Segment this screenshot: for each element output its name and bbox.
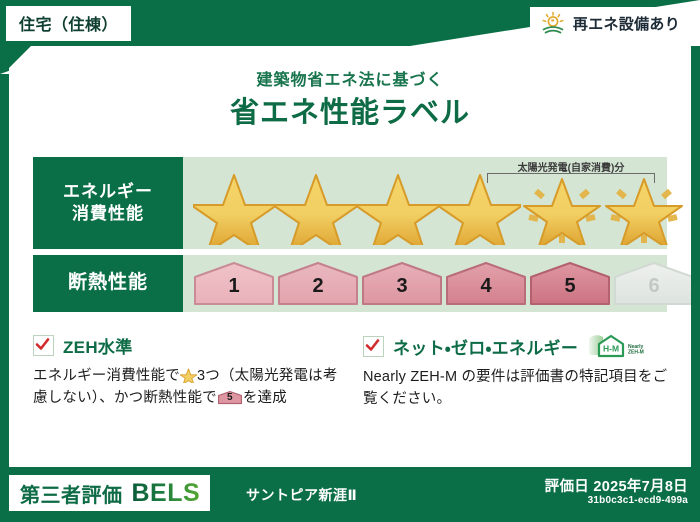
insulation-performance-row: 断熱性能 <box>33 255 667 312</box>
inline-grade-badge: 5 <box>218 389 242 406</box>
zeh-body-pre: エネルギー消費性能で <box>33 368 180 384</box>
inline-star-icon <box>180 367 197 383</box>
insulation-performance-label: 断熱性能 <box>33 255 183 312</box>
zeh-standard-heading-row: ZEH水準 <box>33 333 343 358</box>
bels-certification-mark: 第三者評価 BELS <box>9 475 210 511</box>
nearly-zehm-logo-icon: H-M Nearly ZEH-M <box>589 333 651 359</box>
energy-label-line1: エネルギー <box>63 181 153 203</box>
evaluation-date: 評価日 2025年7月8日 <box>545 475 688 496</box>
checkbox-checked <box>33 335 54 356</box>
insulation-performance-body: 1 2 3 <box>183 255 667 312</box>
sun-icon <box>540 11 566 35</box>
energy-label-card: 住宅（住棟） 再エネ設備あり 建築物省エネ法に基づく 省エネ性能ラベル エネルギ… <box>0 0 700 522</box>
check-icon <box>35 337 50 352</box>
zeh-body-post: を達成 <box>243 390 287 406</box>
grade-number: 4 <box>445 276 527 296</box>
net-zero-body: Nearly ZEH-M の要件は評価書の特記項目をご覧ください。 <box>363 366 673 410</box>
label-title: 省エネ性能ラベル <box>9 89 691 131</box>
star-filled <box>275 169 357 245</box>
insulation-grade-badge: 3 <box>361 261 443 306</box>
energy-label-line2: 消費性能 <box>72 203 144 225</box>
star-filled <box>357 169 439 245</box>
check-icon <box>365 338 380 353</box>
grade-number: 1 <box>193 276 275 296</box>
star-filled <box>193 169 275 245</box>
insulation-grade-badge: 2 <box>277 261 359 306</box>
building-name: サントピア新涯Ⅱ <box>246 485 357 505</box>
insulation-grade-badge: 1 <box>193 261 275 306</box>
net-zero-energy-column: ネット・ゼロ・エネルギー H-M Nearly ZEH-M Nearly ZEH… <box>363 333 673 410</box>
label-footer: 第三者評価 BELS サントピア新涯Ⅱ 評価日 2025年7月8日 31b0c3… <box>0 467 700 522</box>
solar-generation-note: 太陽光発電(自家消費)分 <box>485 159 657 174</box>
net-zero-heading: ネット・ゼロ・エネルギー <box>393 334 578 359</box>
insulation-grade-badge: 6 <box>613 261 695 306</box>
renewable-equipment-badge: 再エネ設備あり <box>530 7 692 39</box>
grade-number: 2 <box>277 276 359 296</box>
document-type-badge: 住宅（住棟） <box>6 6 131 41</box>
bels-jp-label: 第三者評価 <box>20 479 123 508</box>
grade-number: 5 <box>529 276 611 296</box>
renewable-badge-label: 再エネ設備あり <box>573 13 680 34</box>
inline-grade-number: 5 <box>218 393 242 403</box>
criteria-columns: ZEH水準 エネルギー消費性能で3つ（太陽光発電は考慮しない）、かつ断熱性能で5… <box>33 333 673 410</box>
insulation-grade-badge: 4 <box>445 261 527 306</box>
checkbox-checked <box>363 336 384 357</box>
energy-performance-label: エネルギー 消費性能 <box>33 157 183 249</box>
zeh-standard-body: エネルギー消費性能で3つ（太陽光発電は考慮しない）、かつ断熱性能で5を達成 <box>33 365 343 409</box>
net-zero-heading-row: ネット・ゼロ・エネルギー H-M Nearly ZEH-M <box>363 333 673 359</box>
grade-number: 3 <box>361 276 443 296</box>
zehm-caption-line2: ZEH-M <box>628 350 644 356</box>
label-subtitle: 建築物省エネ法に基づく <box>9 66 691 90</box>
grade-number: 6 <box>613 276 695 296</box>
insulation-grade-scale: 1 2 3 <box>193 255 661 312</box>
insulation-grade-badge: 5 <box>529 261 611 306</box>
energy-performance-row: エネルギー 消費性能 太陽光発電(自家消費)分 <box>33 157 667 249</box>
solar-bracket <box>487 173 655 183</box>
label-body-card: 建築物省エネ法に基づく 省エネ性能ラベル エネルギー 消費性能 太陽光発電(自家… <box>9 46 691 467</box>
zeh-standard-column: ZEH水準 エネルギー消費性能で3つ（太陽光発電は考慮しない）、かつ断熱性能で5… <box>33 333 343 410</box>
evaluation-id: 31b0c3c1-ecd9-499a <box>588 495 688 506</box>
energy-performance-body: 太陽光発電(自家消費)分 <box>183 157 667 249</box>
zeh-standard-heading: ZEH水準 <box>63 333 133 358</box>
bels-en-label: BELS <box>132 479 201 508</box>
zehm-logo-text: H-M <box>603 344 619 354</box>
